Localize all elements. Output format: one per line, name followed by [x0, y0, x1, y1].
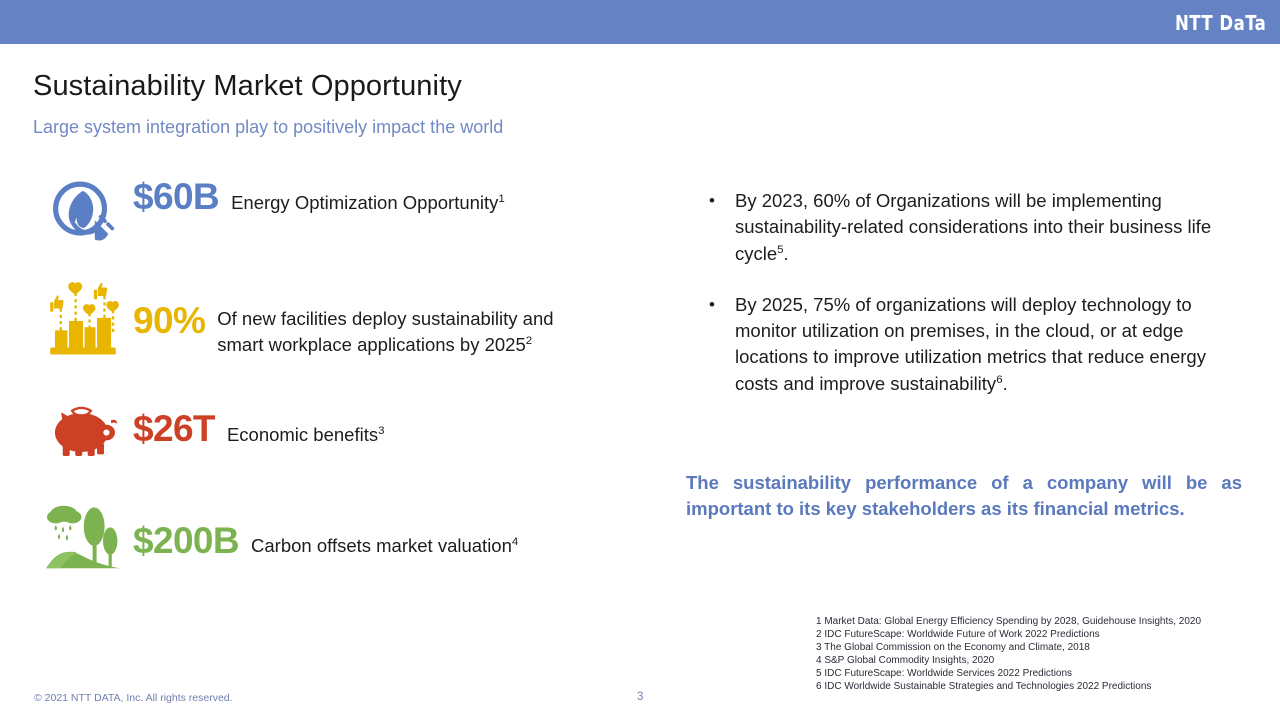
footnotes-block: 1 Market Data: Global Energy Efficiency … [816, 615, 1201, 693]
stat-label: Economic benefits3 [227, 410, 385, 448]
leaf-plug-icon [33, 172, 133, 254]
stat-value: $200B [133, 522, 239, 560]
stat-label: Carbon offsets market valuation4 [251, 522, 518, 559]
bar-chart-hearts-icon [33, 280, 133, 362]
bullet-list: • By 2023, 60% of Organizations will be … [705, 188, 1251, 422]
bullet-marker: • [705, 188, 735, 214]
highlight-quote: The sustainability performance of a comp… [686, 470, 1242, 522]
landscape-rain-trees-icon [33, 500, 133, 582]
footnote-item: 1 Market Data: Global Energy Efficiency … [816, 615, 1201, 628]
footnote-item: 4 S&P Global Commodity Insights, 2020 [816, 654, 1201, 667]
footnote-ref: 3 [378, 425, 384, 437]
page-subtitle: Large system integration play to positiv… [33, 117, 503, 138]
footnote-ref: 2 [526, 335, 532, 347]
copyright-text: © 2021 NTT DATA, Inc. All rights reserve… [34, 692, 233, 704]
stat-row: $200B Carbon offsets market valuation4 [33, 500, 653, 582]
stat-content: $200B Carbon offsets market valuation4 [133, 500, 518, 560]
highlight-quote-text: The sustainability performance of a comp… [686, 472, 1242, 519]
footnote-item: 2 IDC FutureScape: Worldwide Future of W… [816, 628, 1201, 641]
stat-label: Of new facilities deploy sustainability … [217, 302, 569, 358]
stat-content: $26T Economic benefits3 [133, 390, 385, 448]
footnote-ref: 4 [512, 536, 518, 548]
piggy-bank-icon [33, 390, 133, 472]
stat-row: $26T Economic benefits3 [33, 390, 653, 472]
stat-row: 90% Of new facilities deploy sustainabil… [33, 280, 653, 362]
bullet-marker: • [705, 292, 735, 318]
stat-row: $60B Energy Optimization Opportunity1 [33, 172, 653, 254]
footnote-item: 5 IDC FutureScape: Worldwide Services 20… [816, 667, 1201, 680]
footnote-ref: 1 [498, 193, 504, 205]
footnote-item: 6 IDC Worldwide Sustainable Strategies a… [816, 680, 1201, 693]
stat-value: 90% [133, 302, 205, 340]
bullet-text: By 2025, 75% of organizations will deplo… [735, 292, 1251, 397]
list-item: • By 2023, 60% of Organizations will be … [705, 188, 1251, 267]
footnote-item: 3 The Global Commission on the Economy a… [816, 641, 1201, 654]
stat-value: $60B [133, 178, 219, 216]
stat-label: Energy Optimization Opportunity1 [231, 178, 505, 216]
bullet-text: By 2023, 60% of Organizations will be im… [735, 188, 1251, 267]
stat-content: 90% Of new facilities deploy sustainabil… [133, 280, 569, 358]
page-title: Sustainability Market Opportunity [33, 70, 462, 103]
stat-content: $60B Energy Optimization Opportunity1 [133, 172, 505, 216]
list-item: • By 2025, 75% of organizations will dep… [705, 292, 1251, 397]
top-banner: NTT DaTa [0, 0, 1280, 44]
page-number: 3 [637, 691, 643, 703]
stat-value: $26T [133, 410, 215, 448]
ntt-data-logo: NTT DaTa [1175, 11, 1266, 35]
